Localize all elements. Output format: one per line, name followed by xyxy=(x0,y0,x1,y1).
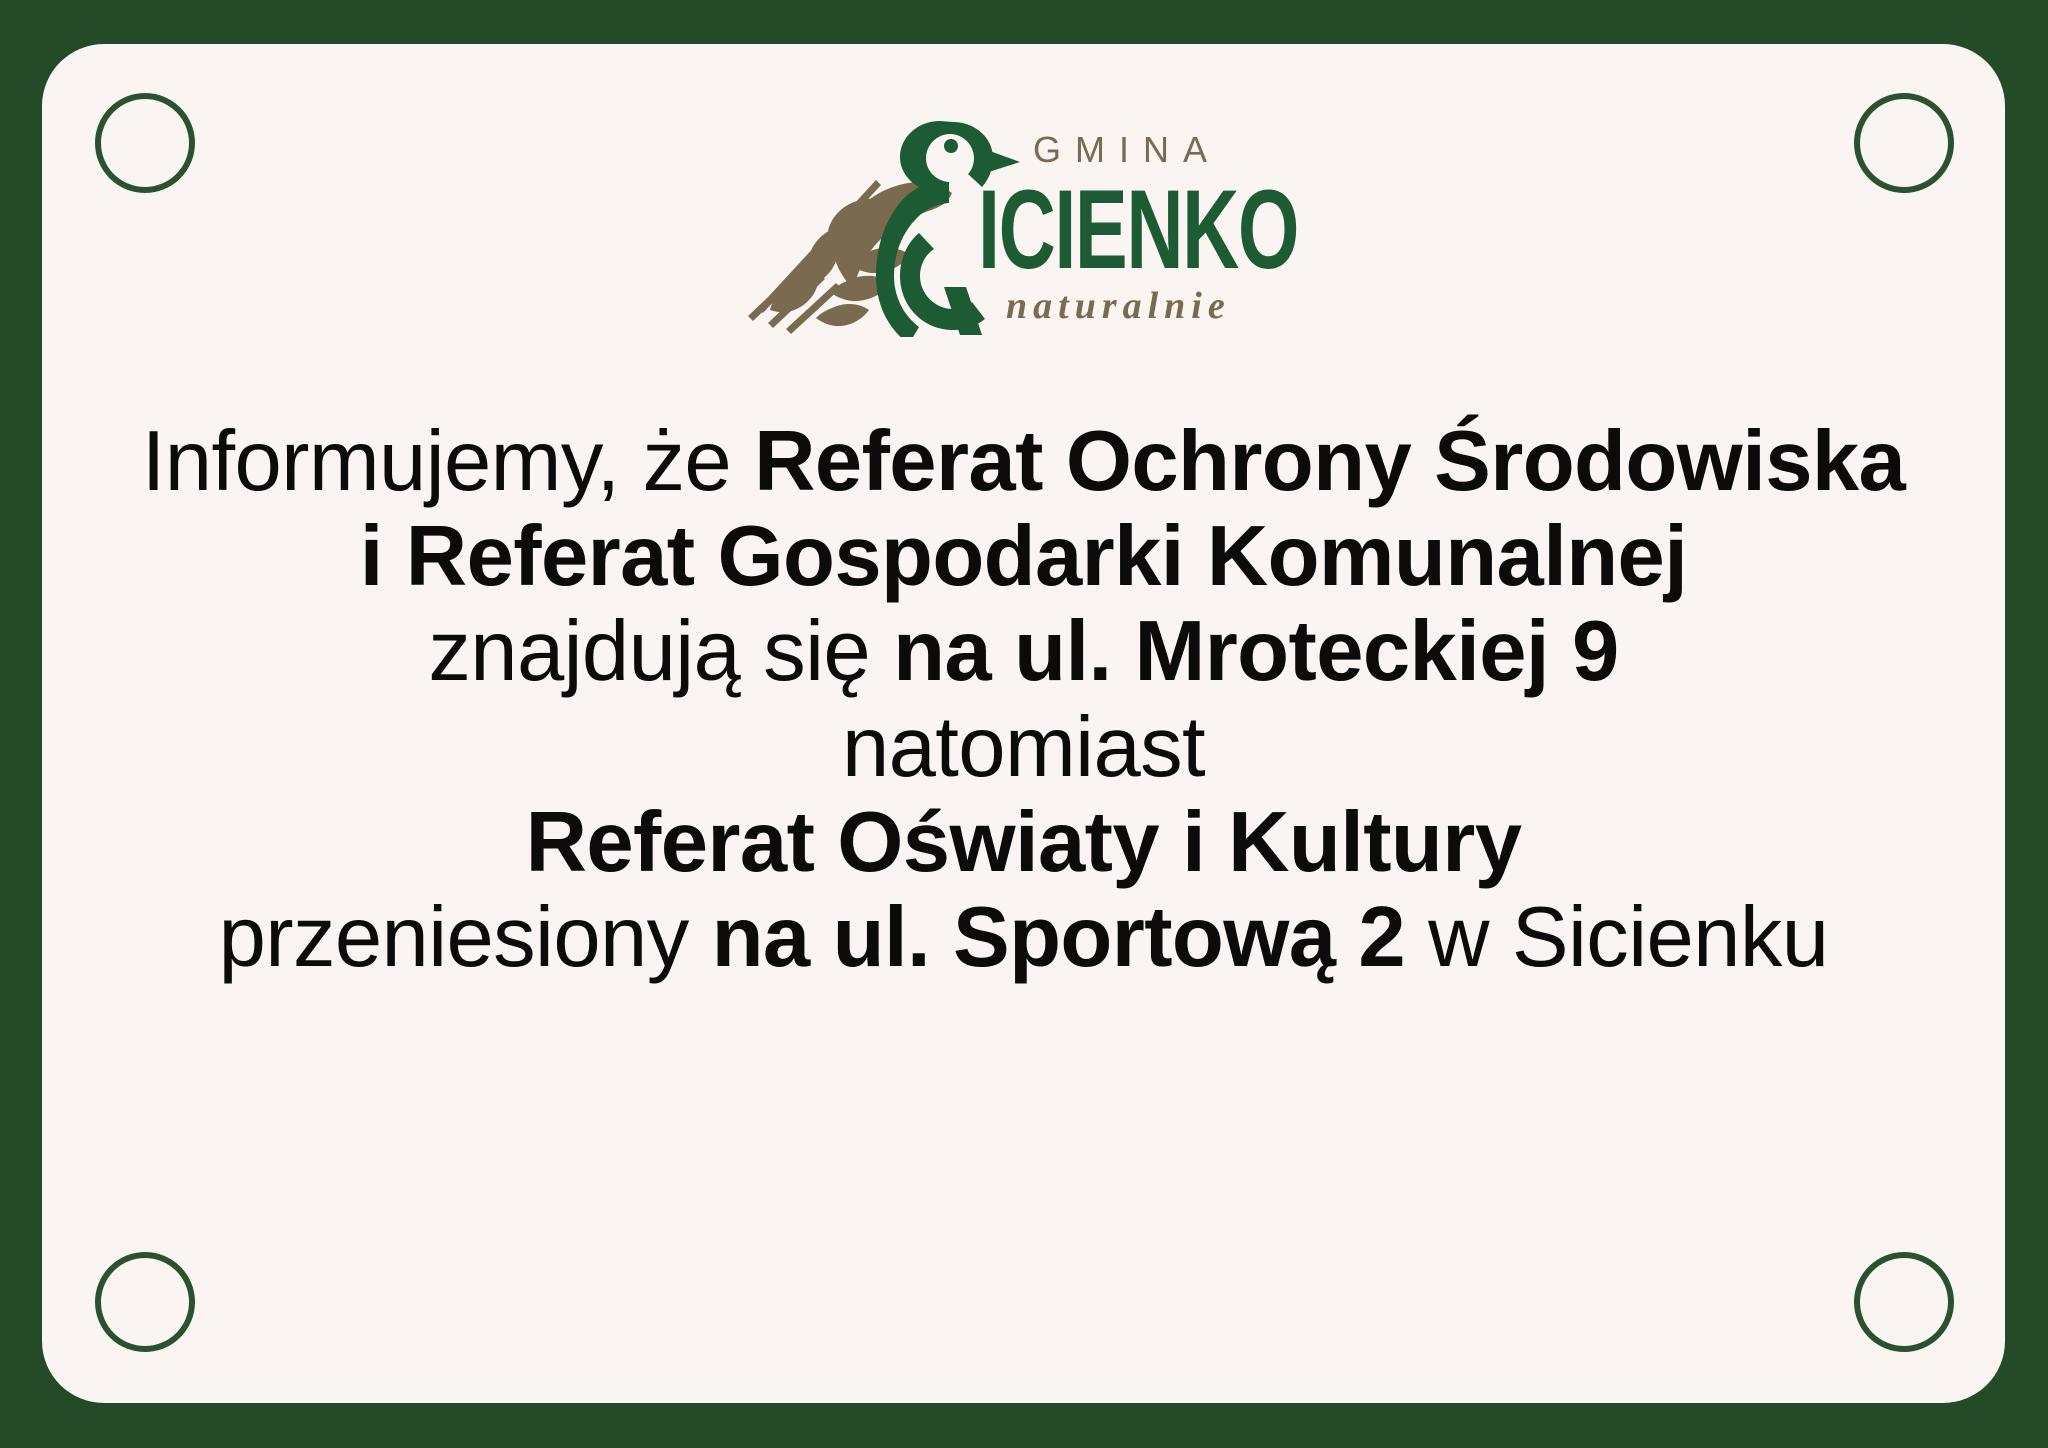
message-text: natomiast xyxy=(842,700,1205,795)
logo-wordmark: ICIENKO xyxy=(978,167,1298,292)
message-emphasis: Referat Ochrony Środowiska xyxy=(754,414,1905,509)
message-emphasis: na ul. Mroteckiej 9 xyxy=(893,604,1619,699)
message-line-4: natomiast xyxy=(88,700,1959,795)
message-line-6: przeniesiony na ul. Sportową 2 w Sicienk… xyxy=(88,890,1959,985)
message-line-2: i Referat Gospodarki Komunalnej xyxy=(88,509,1959,604)
message-text: przeniesiony xyxy=(219,890,712,985)
announcement-plaque: GMINA ICIENKO naturalnie Informujemy, że… xyxy=(42,44,2005,1403)
gmina-sicienko-logo: GMINA ICIENKO naturalnie xyxy=(42,102,2005,337)
message-text: w Sicienku xyxy=(1405,890,1828,985)
message-line-3: znajdują się na ul. Mroteckiej 9 xyxy=(88,604,1959,699)
bolt-ring-bottom-right-icon xyxy=(1854,1252,1954,1352)
logo-supertitle: GMINA xyxy=(1033,129,1221,170)
message-emphasis: Referat Oświaty i Kultury xyxy=(526,795,1522,890)
bolt-ring-bottom-left-icon xyxy=(95,1252,195,1352)
message-line-1: Informujemy, że Referat Ochrony Środowis… xyxy=(88,414,1959,509)
announcement-board: GMINA ICIENKO naturalnie Informujemy, że… xyxy=(0,0,2048,1448)
announcement-message: Informujemy, że Referat Ochrony Środowis… xyxy=(42,414,2005,985)
logo-artwork: GMINA ICIENKO naturalnie xyxy=(744,102,1304,337)
message-text: Informujemy, że xyxy=(142,414,754,509)
logo-tagline: naturalnie xyxy=(1006,285,1231,327)
message-emphasis: na ul. Sportową 2 xyxy=(712,890,1406,985)
message-line-5: Referat Oświaty i Kultury xyxy=(88,795,1959,890)
message-emphasis: i Referat Gospodarki Komunalnej xyxy=(360,509,1688,604)
message-text: znajdują się xyxy=(428,604,893,699)
